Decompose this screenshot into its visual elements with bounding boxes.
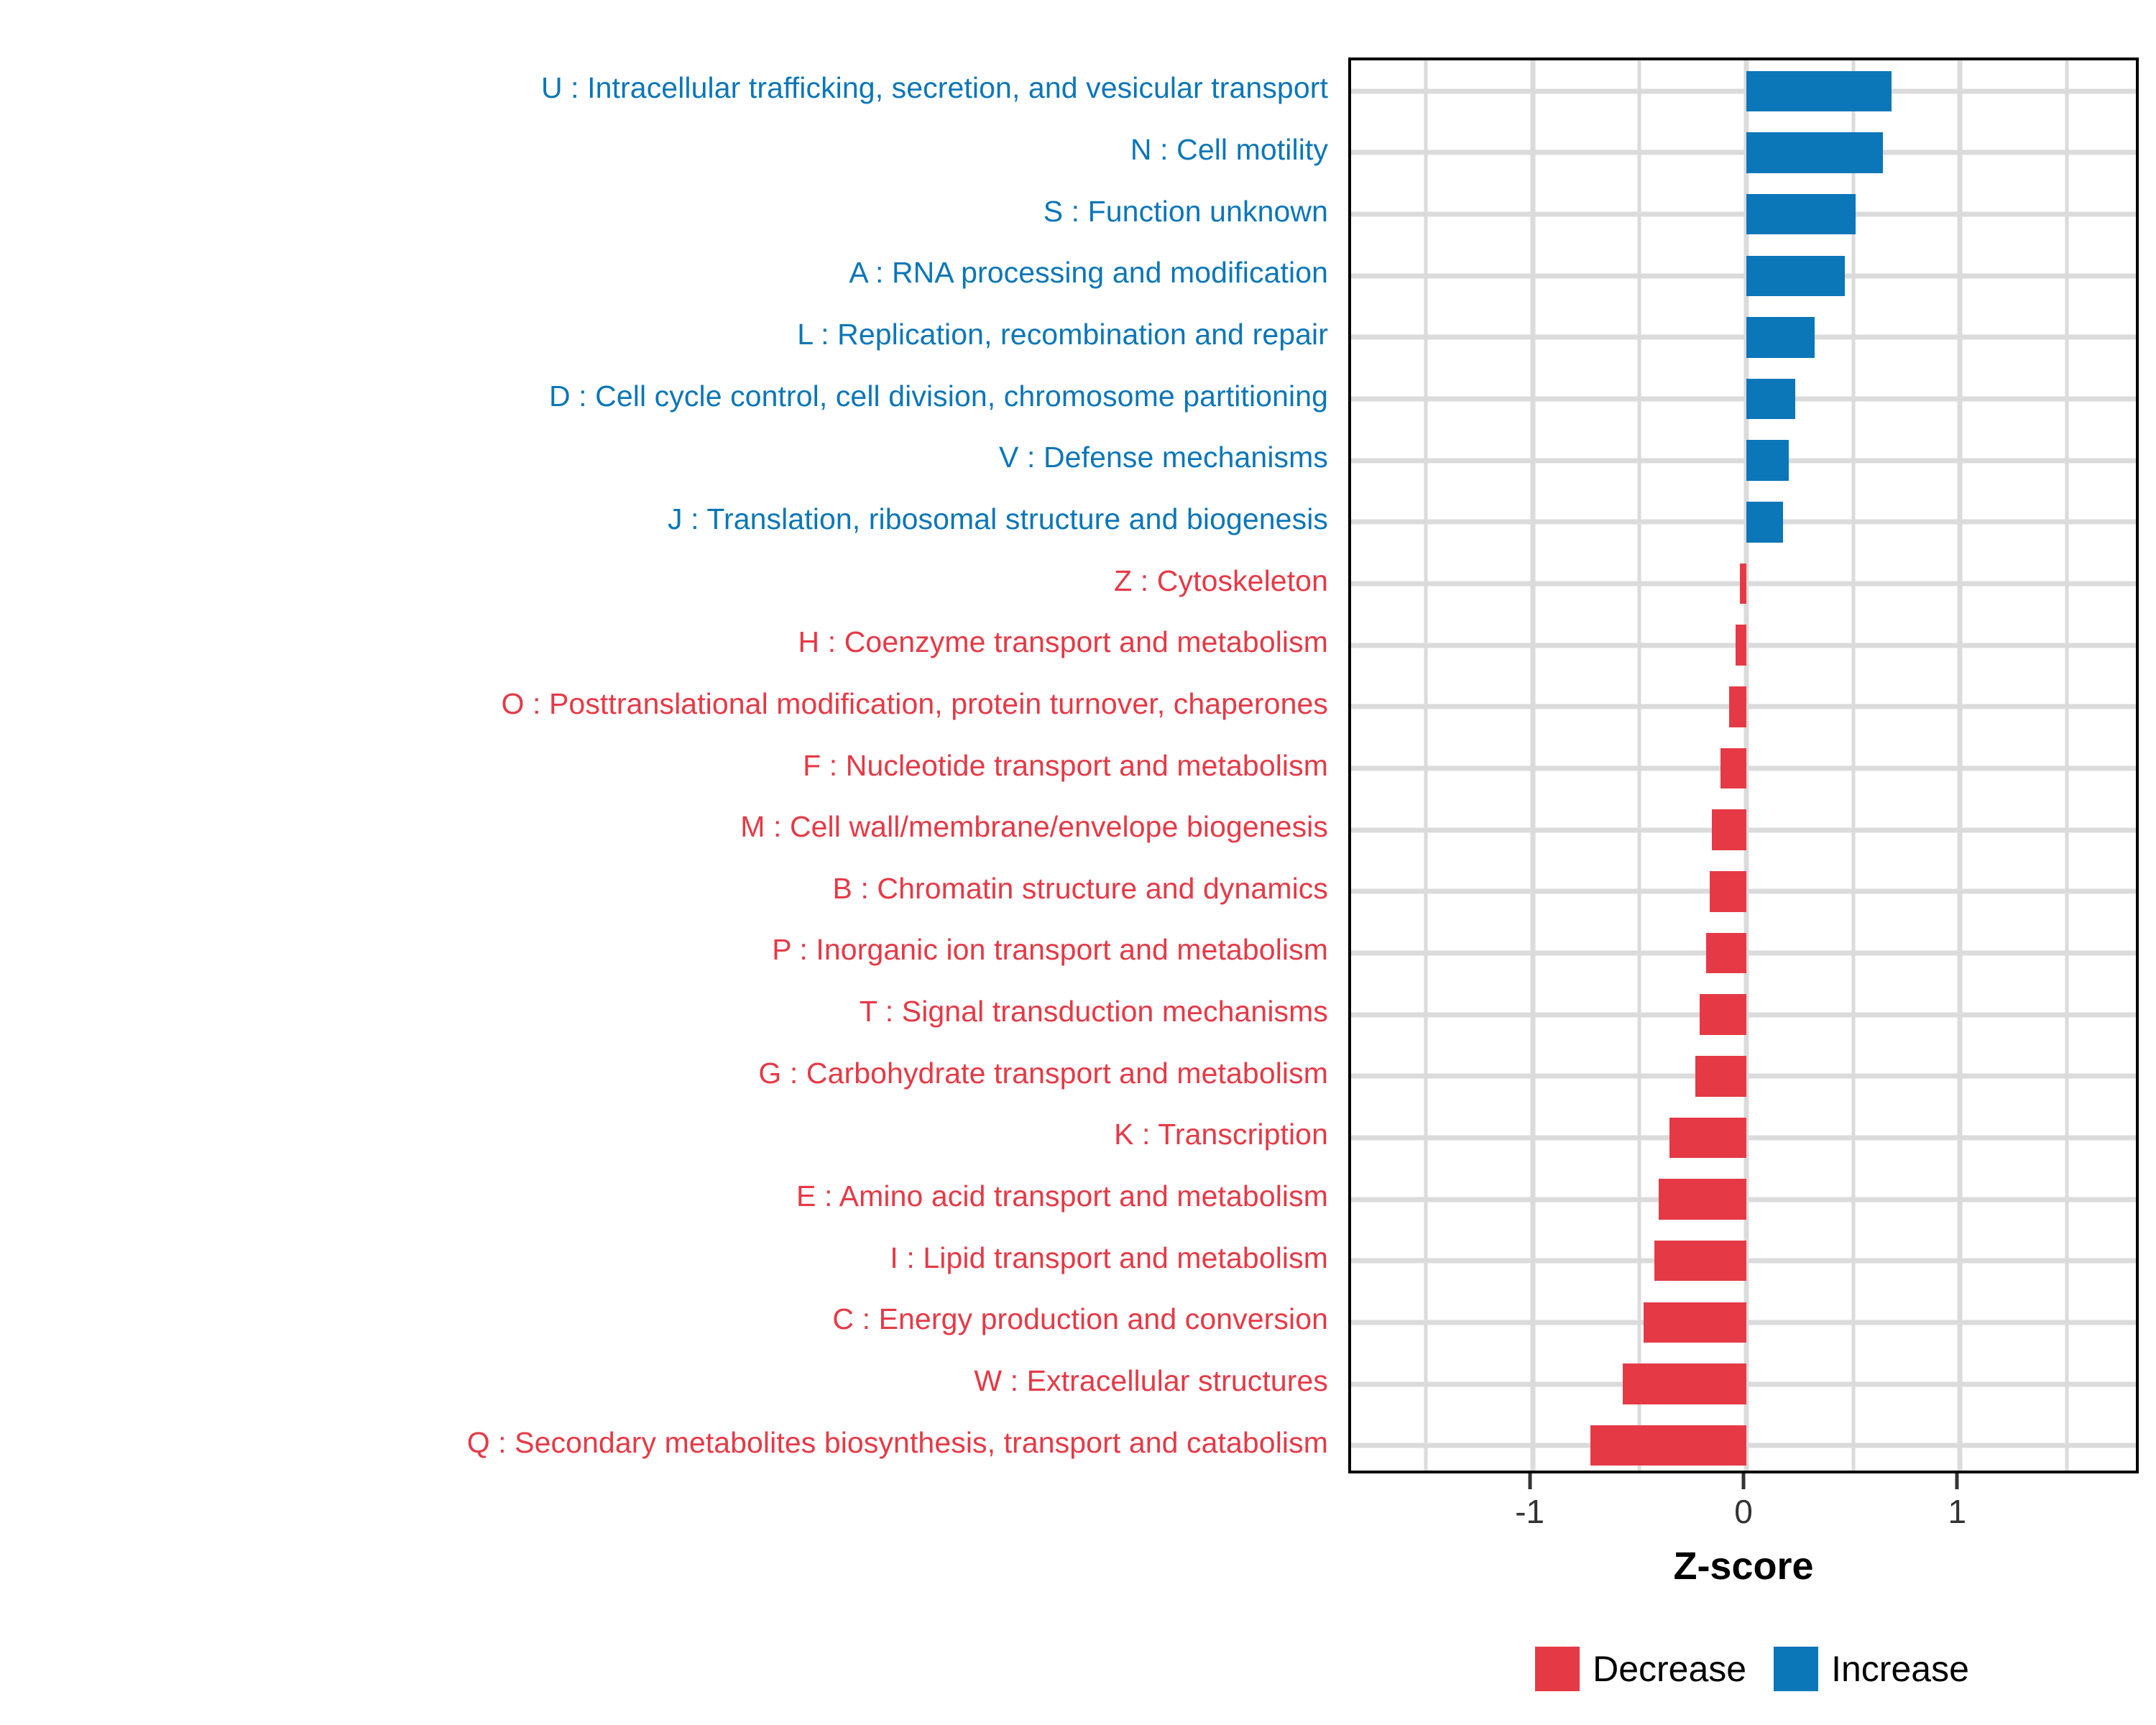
category-label: G : Carbohydrate transport and metabolis… <box>758 1058 1328 1089</box>
bar <box>1623 1363 1746 1404</box>
category-label-row: G : Carbohydrate transport and metabolis… <box>0 1043 1338 1105</box>
legend-entry-decrease[interactable]: Decrease <box>1535 1647 1746 1691</box>
plot-panel <box>1348 57 2139 1473</box>
category-label-row: J : Translation, ribosomal structure and… <box>0 489 1338 551</box>
horizontal-gridline <box>1351 88 2136 93</box>
category-label: C : Energy production and conversion <box>832 1304 1328 1335</box>
category-label-row: M : Cell wall/membrane/envelope biogenes… <box>0 796 1338 858</box>
horizontal-gridline <box>1351 520 2136 525</box>
category-label-row: A : RNA processing and modification <box>0 242 1338 304</box>
horizontal-gridline <box>1351 458 2136 463</box>
bar <box>1720 748 1746 789</box>
category-label: Q : Secondary metabolites biosynthesis, … <box>467 1427 1328 1458</box>
category-label: Z : Cytoskeleton <box>1114 566 1328 597</box>
horizontal-gridline <box>1351 335 2136 340</box>
category-label: J : Translation, ribosomal structure and… <box>668 504 1328 535</box>
category-label-row: Q : Secondary metabolites biosynthesis, … <box>0 1412 1338 1473</box>
legend-label: Decrease <box>1593 1648 1746 1690</box>
legend-swatch-icon <box>1774 1647 1818 1691</box>
category-label-row: S : Function unknown <box>0 180 1338 242</box>
bar <box>1746 502 1783 543</box>
category-label: T : Signal transduction mechanisms <box>860 996 1328 1027</box>
bar <box>1706 933 1746 974</box>
legend: DecreaseIncrease <box>1348 1633 2156 1705</box>
category-label: P : Inorganic ion transport and metaboli… <box>772 934 1328 965</box>
category-label-row: T : Signal transduction mechanisms <box>0 981 1338 1043</box>
category-label: V : Defense mechanisms <box>999 442 1328 473</box>
bar <box>1746 71 1892 112</box>
bar <box>1700 994 1746 1035</box>
category-label-row: C : Energy production and conversion <box>0 1289 1338 1351</box>
category-label-row: W : Extracellular structures <box>0 1351 1338 1412</box>
category-label-row: O : Posttranslational modification, prot… <box>0 673 1338 735</box>
category-label: K : Transcription <box>1114 1119 1328 1150</box>
bar <box>1695 1056 1746 1097</box>
category-label-row: N : Cell motility <box>0 119 1338 181</box>
bar <box>1710 871 1746 912</box>
category-label-row: B : Chromatin structure and dynamics <box>0 858 1338 920</box>
horizontal-gridline <box>1351 150 2136 155</box>
category-label: M : Cell wall/membrane/envelope biogenes… <box>740 811 1328 842</box>
category-label: L : Replication, recombination and repai… <box>797 319 1328 350</box>
category-label-row: E : Amino acid transport and metabolism <box>0 1166 1338 1228</box>
horizontal-gridline <box>1351 273 2136 278</box>
category-label-row: F : Nucleotide transport and metabolism <box>0 735 1338 796</box>
category-label: N : Cell motility <box>1130 134 1328 165</box>
x-axis-title: Z-score <box>1348 1544 2139 1588</box>
category-label-row: D : Cell cycle control, cell division, c… <box>0 365 1338 427</box>
category-axis-labels: U : Intracellular trafficking, secretion… <box>0 57 1338 1473</box>
category-label: O : Posttranslational modification, prot… <box>502 689 1328 719</box>
x-axis-tick <box>1528 1473 1531 1489</box>
bar <box>1659 1179 1746 1220</box>
category-label: W : Extracellular structures <box>974 1366 1328 1397</box>
horizontal-gridline <box>1351 397 2136 402</box>
x-axis-tick <box>1742 1473 1746 1489</box>
bar <box>1746 379 1795 420</box>
category-label-row: U : Intracellular trafficking, secretion… <box>0 57 1338 119</box>
bar <box>1746 317 1815 358</box>
legend-entry-increase[interactable]: Increase <box>1774 1647 1969 1691</box>
bar <box>1736 625 1746 666</box>
legend-swatch-icon <box>1535 1647 1580 1691</box>
bar <box>1746 440 1789 481</box>
x-axis-tick-label: 1 <box>1948 1492 1967 1531</box>
bar <box>1712 809 1746 850</box>
bar <box>1654 1241 1746 1282</box>
category-label: A : RNA processing and modification <box>849 257 1328 288</box>
category-label-row: K : Transcription <box>0 1104 1338 1166</box>
plot-area <box>1351 60 2136 1471</box>
cog-zscore-bar-chart: U : Intracellular trafficking, secretion… <box>0 0 2156 1725</box>
category-label-row: H : Coenzyme transport and metabolism <box>0 612 1338 673</box>
category-label: U : Intracellular trafficking, secretion… <box>541 73 1328 103</box>
bar <box>1746 256 1845 297</box>
category-label-row: P : Inorganic ion transport and metaboli… <box>0 919 1338 981</box>
bar <box>1746 132 1883 173</box>
category-label-row: V : Defense mechanisms <box>0 427 1338 489</box>
bar <box>1746 194 1856 235</box>
category-label: F : Nucleotide transport and metabolism <box>803 750 1328 781</box>
category-label: I : Lipid transport and metabolism <box>890 1243 1328 1274</box>
x-axis-tick-label: -1 <box>1515 1492 1544 1531</box>
category-label-row: I : Lipid transport and metabolism <box>0 1227 1338 1289</box>
category-label-row: L : Replication, recombination and repai… <box>0 304 1338 366</box>
bar <box>1740 563 1746 604</box>
bar <box>1644 1302 1746 1343</box>
legend-label: Increase <box>1831 1648 1969 1690</box>
category-label: E : Amino acid transport and metabolism <box>796 1181 1328 1212</box>
x-axis-tick <box>1955 1473 1959 1489</box>
category-label: S : Function unknown <box>1044 196 1328 227</box>
bar <box>1590 1425 1746 1466</box>
x-axis-tick-label: 0 <box>1734 1492 1753 1531</box>
bar <box>1729 686 1746 727</box>
horizontal-gridline <box>1351 212 2136 217</box>
category-label: D : Cell cycle control, cell division, c… <box>549 381 1328 412</box>
category-label-row: Z : Cytoskeleton <box>0 550 1338 612</box>
category-label: B : Chromatin structure and dynamics <box>833 873 1329 904</box>
category-label: H : Coenzyme transport and metabolism <box>798 627 1328 658</box>
bar <box>1669 1118 1746 1159</box>
